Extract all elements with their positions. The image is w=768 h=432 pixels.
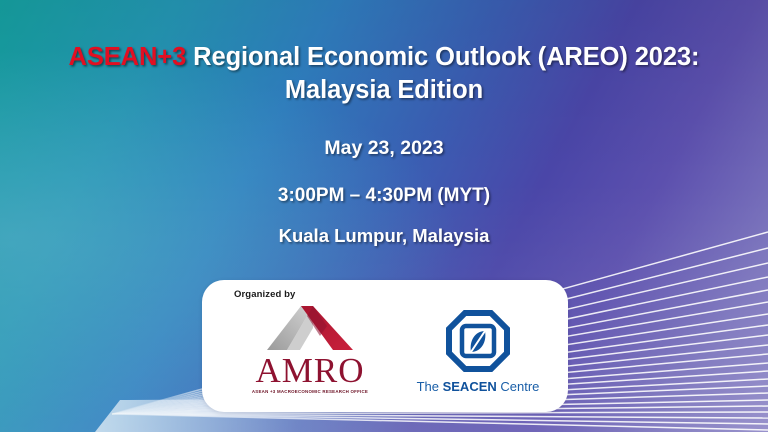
organized-by-label: Organized by <box>234 289 295 300</box>
amro-chevron-icon <box>267 306 353 350</box>
poster-text-stack: ASEAN+3 Regional Economic Outlook (AREO)… <box>0 0 768 247</box>
seacen-name: SEACEN <box>443 379 497 394</box>
seacen-logo: The SEACEN Centre <box>398 310 558 394</box>
amro-tagline: ASEAN +3 MACROECONOMIC RESEARCH OFFICE <box>232 389 388 394</box>
title-line-2: Malaysia Edition <box>285 76 483 104</box>
event-poster: ASEAN+3 Regional Economic Outlook (AREO)… <box>0 0 768 432</box>
amro-logo: AMRO ASEAN +3 MACROECONOMIC RESEARCH OFF… <box>232 306 388 394</box>
seacen-suffix: Centre <box>497 379 540 394</box>
organizer-logos-row: AMRO ASEAN +3 MACROECONOMIC RESEARCH OFF… <box>202 306 568 410</box>
organizer-card: Organized by <box>202 280 568 412</box>
title-accent: ASEAN+3 <box>69 43 187 71</box>
event-time: 3:00PM – 4:30PM (MYT) <box>0 160 768 207</box>
seacen-octagon-leaf-icon <box>446 310 510 372</box>
seacen-wordmark: The SEACEN Centre <box>398 379 558 394</box>
title-rest: Regional Economic Outlook (AREO) 2023: <box>186 43 699 71</box>
page-title: ASEAN+3 Regional Economic Outlook (AREO)… <box>0 0 768 107</box>
amro-wordmark: AMRO <box>232 354 388 387</box>
seacen-prefix: The <box>417 379 443 394</box>
event-date: May 23, 2023 <box>0 107 768 160</box>
event-location: Kuala Lumpur, Malaysia <box>0 207 768 247</box>
